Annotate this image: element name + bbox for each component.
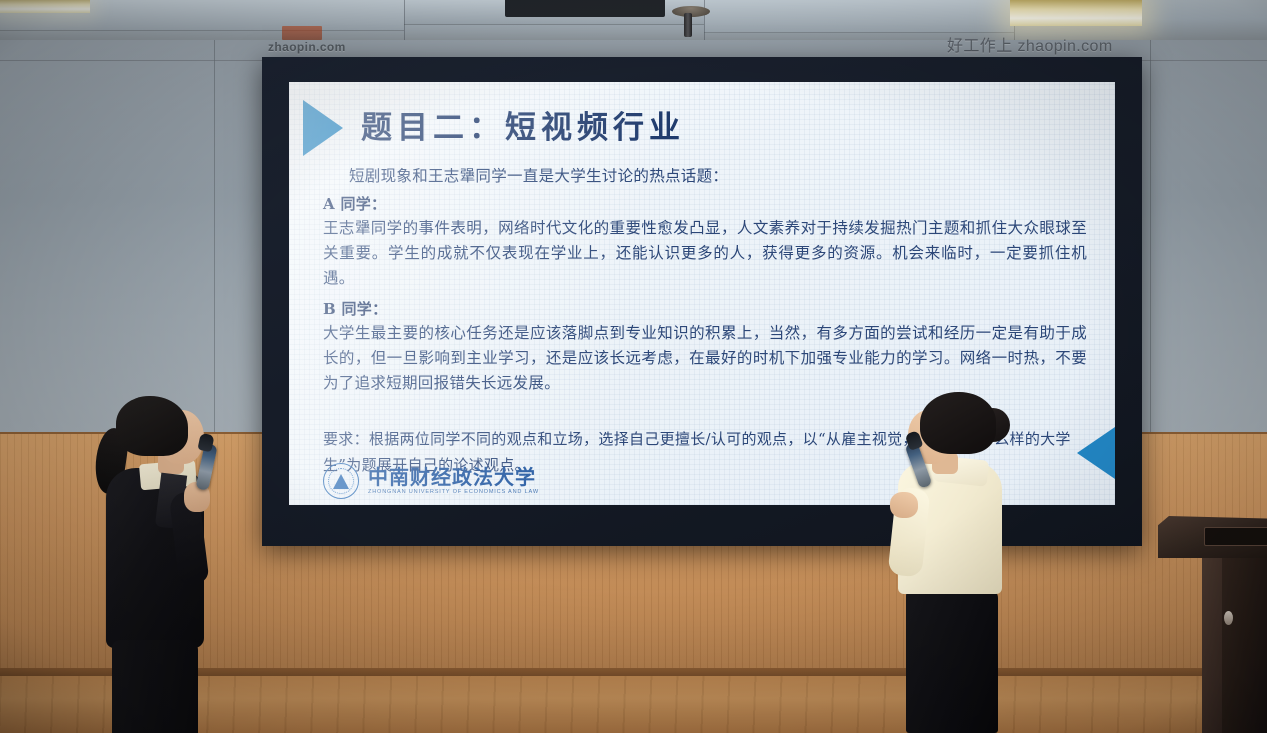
lecture-hall-scene: zhaopin.com 好工作上 zhaopin.com 题目二：短视频行业 短…: [0, 0, 1267, 733]
ceiling-light-left: [0, 0, 90, 13]
slide-lead-text: 短剧现象和王志犟同学一直是大学生讨论的热点话题：: [349, 164, 1087, 186]
ceiling-tile-midright: [704, 0, 1014, 33]
speaker-b-text: 大学生最主要的核心任务还是应该落脚点到专业知识的积累上，当然，有多方面的尝试和经…: [323, 321, 1087, 396]
university-crest-icon: [323, 463, 359, 499]
lectern-column-edge: [1202, 554, 1222, 733]
ceiling-seam-1: [404, 0, 405, 42]
university-name-cn: 中南财经政法大学: [368, 467, 539, 487]
presenter-right-skirt: [906, 588, 998, 733]
presenter-left: [88, 396, 238, 733]
wall-seam-left: [214, 40, 215, 435]
university-logo-text: 中南财经政法大学 ZHONGNAN UNIVERSITY OF ECONOMIC…: [368, 467, 539, 496]
ceiling-seam-2: [704, 0, 705, 42]
presenter-left-hair: [116, 396, 188, 456]
university-logo: 中南财经政法大学 ZHONGNAN UNIVERSITY OF ECONOMIC…: [323, 463, 539, 499]
crest-triangle-icon: [333, 474, 349, 489]
zhaopin-badge-icon: [282, 26, 322, 40]
presenter-right-hand: [890, 492, 918, 518]
watermark-top-right: 好工作上 zhaopin.com: [947, 32, 1113, 56]
university-name-en: ZHONGNAN UNIVERSITY OF ECONOMICS AND LAW: [368, 490, 539, 496]
ceiling-light-panel: [1010, 0, 1142, 26]
triangle-accent-bottom-right-icon: [1077, 427, 1115, 479]
triangle-accent-icon: [303, 100, 343, 156]
presenter-right-hair: [920, 392, 996, 454]
presenter-right: [884, 392, 1034, 733]
watermark-top-left: zhaopin.com: [268, 40, 346, 54]
slide-title: 题目二：短视频行业: [361, 102, 685, 147]
speaker-b-label: B 同学：: [323, 298, 1087, 319]
lectern: [1158, 516, 1267, 733]
slide-title-row: 题目二：短视频行业: [323, 104, 1087, 158]
ceiling-vent: [505, 0, 665, 17]
speaker-a-label: A 同学：: [323, 193, 1087, 214]
presenter-left-trousers: [112, 640, 198, 733]
wall-seam-right: [1150, 40, 1151, 432]
ceiling-camera-mount: [684, 13, 692, 37]
lectern-knob-icon: [1224, 611, 1233, 625]
lectern-panel-slot: [1204, 527, 1267, 546]
speaker-a-text: 王志犟同学的事件表明，网络时代文化的重要性愈发凸显，人文素养对于持续发掘热门主题…: [323, 216, 1087, 291]
